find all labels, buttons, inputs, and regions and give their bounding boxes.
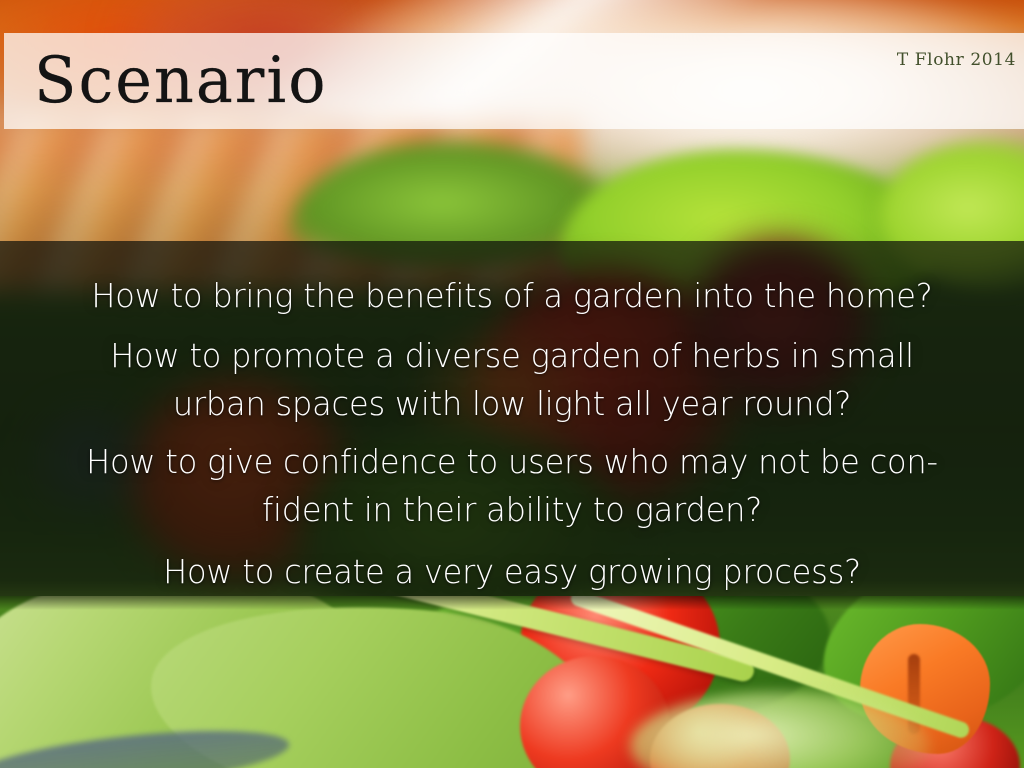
author-attribution: T Flohr 2014 <box>897 50 1016 70</box>
page-title: Scenario <box>34 40 328 122</box>
question-item-4: How to create a very easy growing proces… <box>70 548 955 596</box>
question-item-2: How to promote a diverse garden of herbs… <box>70 332 955 428</box>
presentation-slide: Scenario T Flohr 2014 How to bring the b… <box>0 0 1024 768</box>
question-list: How to bring the benefits of a garden in… <box>0 272 1024 596</box>
question-item-1: How to bring the benefits of a garden in… <box>70 272 955 320</box>
photo-salad-closeup <box>0 596 1024 768</box>
salad-top-shadow <box>0 596 1024 610</box>
question-item-3: How to give confidence to users who may … <box>70 438 955 534</box>
